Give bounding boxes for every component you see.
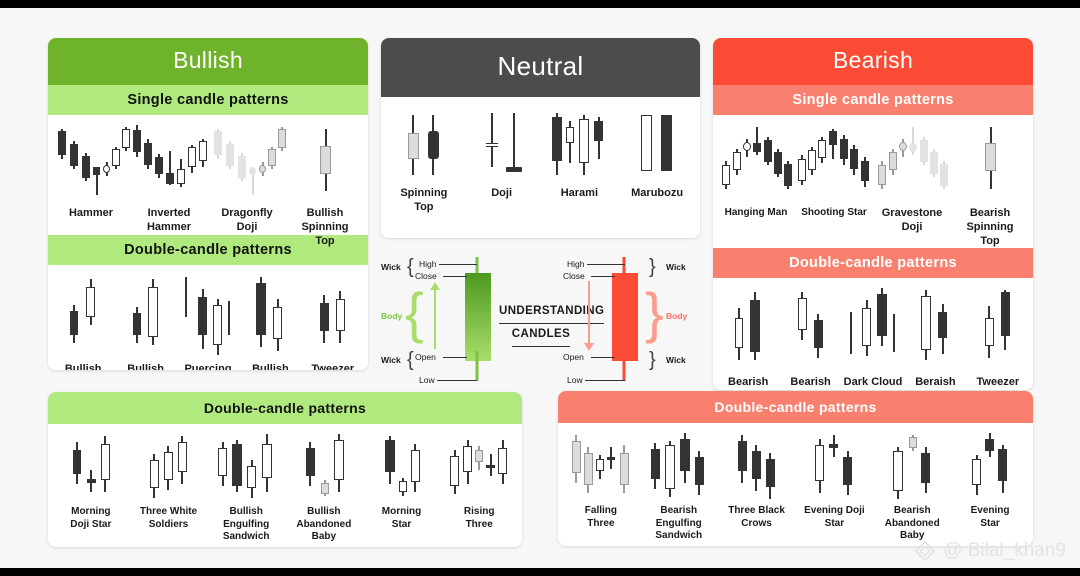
bullish-single-header: Single candle patterns [48,85,368,115]
watermark: @ Bilal_khan9 [914,540,1066,562]
bearish-single-row: Hanging Man [713,115,1033,248]
pattern-label: Harami [561,187,598,201]
pattern-marubozu[interactable]: Marubozu [618,111,696,201]
pattern-label: Dark Cloud Cover [844,376,903,390]
pattern-label: Three White Soldiers [140,506,197,531]
pattern-label: Tweezer Bottom [312,363,355,370]
uc-bear-high-leader [587,264,625,265]
uc-bull-lower-wick [476,351,479,381]
pattern-spinning-top[interactable]: Spinning Top [385,111,463,215]
pattern-label: Tweezer Top [977,376,1020,390]
pattern-bearish-engulfing-sandwich[interactable]: Bearish Engulfing Sandwich [640,433,718,543]
bullish-multi-header: Double-candle patterns [48,392,522,424]
pattern-harami[interactable]: Harami [541,111,619,201]
pattern-label: Gravestone Doji [882,207,943,235]
pattern-beraish-harami[interactable]: Beraish Harami [904,286,966,390]
pattern-bearish-engulfing[interactable]: Bearish Engulfing [717,286,779,390]
pattern-label: Bearish Kicker [790,376,830,390]
pattern-label: Evening Doji Star [804,505,865,530]
understanding-candles-diagram: High Close Open Low { { { Wick Wick Body… [381,251,700,399]
panel-bullish: Bullish Single candle patterns [48,38,368,370]
pattern-label: Doji [491,187,512,201]
bullish-double-row: Bullish Kicker Bullish Engulfing [48,265,368,370]
pattern-inverted-hammer[interactable]: Inverted Hammer [130,123,208,235]
panel-bearish-multi: Double-candle patterns [558,391,1033,546]
neutral-row: Spinning Top Doji [381,97,700,238]
pattern-label: Hanging Man [725,207,788,220]
uc-bear-high-label: High [567,259,584,269]
pattern-bullish-engulfing-sandwich[interactable]: Bullish Engulfing Sandwich [207,434,285,544]
pattern-tweezer-top[interactable]: Tweezer Top [967,286,1029,390]
pattern-shooting-star[interactable]: Shooting Star [795,123,873,220]
neutral-title: Neutral [381,38,700,97]
watermark-handle: @ Bilal_khan9 [943,540,1066,562]
pattern-label: Bearish Engulfing Sandwich [640,505,718,543]
uc-bull-low-leader [437,380,477,381]
understanding-title-line2: CANDLES [512,324,570,347]
pattern-dragonfly-doji[interactable]: Dragonfly Doji [208,123,286,235]
pattern-hanging-man[interactable]: Hanging Man [717,123,795,220]
pattern-evening-star[interactable]: Evening Star [951,433,1029,530]
panel-neutral: Neutral Spinning Top [381,38,700,238]
pattern-label: Morning Doji Star [70,506,111,531]
infographic-canvas: Bullish Single candle patterns [0,8,1080,568]
pattern-label: Shooting Star [801,207,867,220]
uc-bull-open-leader [443,357,467,358]
pattern-tweezer-bottom[interactable]: Tweezer Bottom [302,273,364,370]
bullish-title: Bullish [48,38,368,85]
pattern-label: Bearish Spinning Top [966,207,1013,248]
uc-bull-wick-top-label: Wick [381,262,401,272]
understanding-title: UNDERSTANDING CANDLES [499,301,583,347]
pattern-three-white-soldiers[interactable]: Three White Soldiers [130,434,208,531]
pattern-label: Marubozu [631,187,683,201]
uc-bull-low-label: Low [419,375,435,385]
uc-bull-high-label: High [419,259,436,269]
uc-bear-top-brace: } [649,257,656,277]
uc-bear-close-label: Close [563,271,585,281]
pattern-evening-doji-star[interactable]: Evening Doji Star [795,433,873,530]
uc-bear-low-label: Low [567,375,583,385]
pattern-label: Three Black Crows [728,505,785,530]
pattern-morning-star[interactable]: Morning Star [363,434,441,531]
pattern-label: Evening Star [971,505,1010,530]
bullish-multi-row: Morning Doji Star Three White Soldiers [48,424,522,542]
uc-bull-wick-bottom-label: Wick [381,355,401,365]
uc-bull-body [465,273,491,361]
pattern-bearish-spinning-top[interactable]: Bearish Spinning Top [951,123,1029,248]
bearish-single-header: Single candle patterns [713,85,1033,115]
pattern-label: Beraish Harami [915,376,955,390]
panel-bullish-multi: Double-candle patterns Morning Doji Star [48,392,522,547]
uc-bear-lower-wick [623,351,626,381]
pattern-morning-doji-star[interactable]: Morning Doji Star [52,434,130,531]
bearish-title: Bearish [713,38,1033,85]
uc-bear-open-leader [591,357,615,358]
pattern-label: Bullish Abandoned Baby [285,506,363,544]
pattern-label: Inverted Hammer [147,207,191,235]
uc-bear-body-label: Body [666,311,687,321]
pattern-label: Bearish Engulfing [723,376,774,390]
pattern-falling-three[interactable]: Falling Three [562,433,640,530]
uc-bull-high-leader [439,264,477,265]
bottom-letterbox-bar [0,568,1080,576]
pattern-bullish-engulfing[interactable]: Bullish Engulfing [114,273,176,370]
pattern-gravestone-doji[interactable]: Gravestone Doji [873,123,951,235]
uc-bull-body-label: Body [381,311,402,321]
pattern-label: Puercing Line [184,363,231,370]
bullish-single-row: Hammer [48,115,368,235]
pattern-label: Rising Three [464,506,495,531]
pattern-label: Spinning Top [400,187,447,215]
pattern-three-black-crows[interactable]: Three Black Crows [718,433,796,530]
bearish-double-header: Double-candle patterns [713,248,1033,278]
pattern-label: Bullish Spinning Top [301,207,348,248]
uc-bull-close-label: Close [415,271,437,281]
uc-bear-wick-bottom-label: Wick [666,355,686,365]
pattern-label: Hammer [69,207,113,221]
pattern-label: Bullish Harami [252,363,289,370]
pattern-label: Falling Three [585,505,617,530]
pattern-bearish-abandoned-baby[interactable]: Bearish Abandoned Baby [873,433,951,543]
uc-bull-body-brace: { [405,285,424,341]
uc-bear-low-leader [585,380,625,381]
pattern-hammer[interactable]: Hammer [52,123,130,221]
top-letterbox-bar [0,0,1080,8]
pattern-puercing-line[interactable]: Puercing Line [177,273,239,370]
uc-bull-direction-arrow [434,287,436,349]
uc-bear-body [612,273,638,361]
pattern-doji[interactable]: Doji [463,111,541,201]
uc-bear-bottom-brace: } [649,350,656,370]
pattern-bullish-harami[interactable]: Bullish Harami [239,273,301,370]
uc-bull-open-label: Open [415,352,436,362]
pattern-label: Bullish Engulfing [120,363,171,370]
uc-bear-wick-top-label: Wick [666,262,686,272]
pattern-label: Bullish Engulfing Sandwich [207,506,285,544]
uc-bear-open-label: Open [563,352,584,362]
pattern-bullish-spinning-top[interactable]: Bullish Spinning Top [286,123,364,248]
uc-bear-close-leader [591,276,615,277]
pattern-rising-three[interactable]: Rising Three [440,434,518,531]
pattern-bullish-abandoned-baby[interactable]: Bullish Abandoned Baby [285,434,363,544]
pattern-label: Bearish Abandoned Baby [873,505,951,543]
pattern-label: Bullish Kicker [65,363,102,370]
pattern-label: Dragonfly Doji [221,207,272,235]
uc-bull-bottom-brace: { [407,350,414,370]
pattern-bullish-kicker[interactable]: Bullish Kicker [52,273,114,370]
diamond-icon [914,540,936,562]
pattern-bearish-kicker[interactable]: Bearish Kicker [779,286,841,390]
bearish-double-row: Bearish Engulfing Bearish Kicker [713,278,1033,390]
panel-bearish: Bearish Single candle patterns [713,38,1033,390]
bearish-multi-row: Falling Three Bearish Engulfing Sandwich [558,423,1033,541]
uc-bull-top-brace: { [407,257,414,277]
uc-bear-body-brace: } [645,285,664,341]
pattern-label: Morning Star [382,506,421,531]
uc-bull-close-leader [443,276,467,277]
pattern-dark-cloud-cover[interactable]: Dark Cloud Cover [842,286,904,390]
uc-bear-direction-arrow [588,281,590,343]
bearish-multi-header: Double-candle patterns [558,391,1033,423]
